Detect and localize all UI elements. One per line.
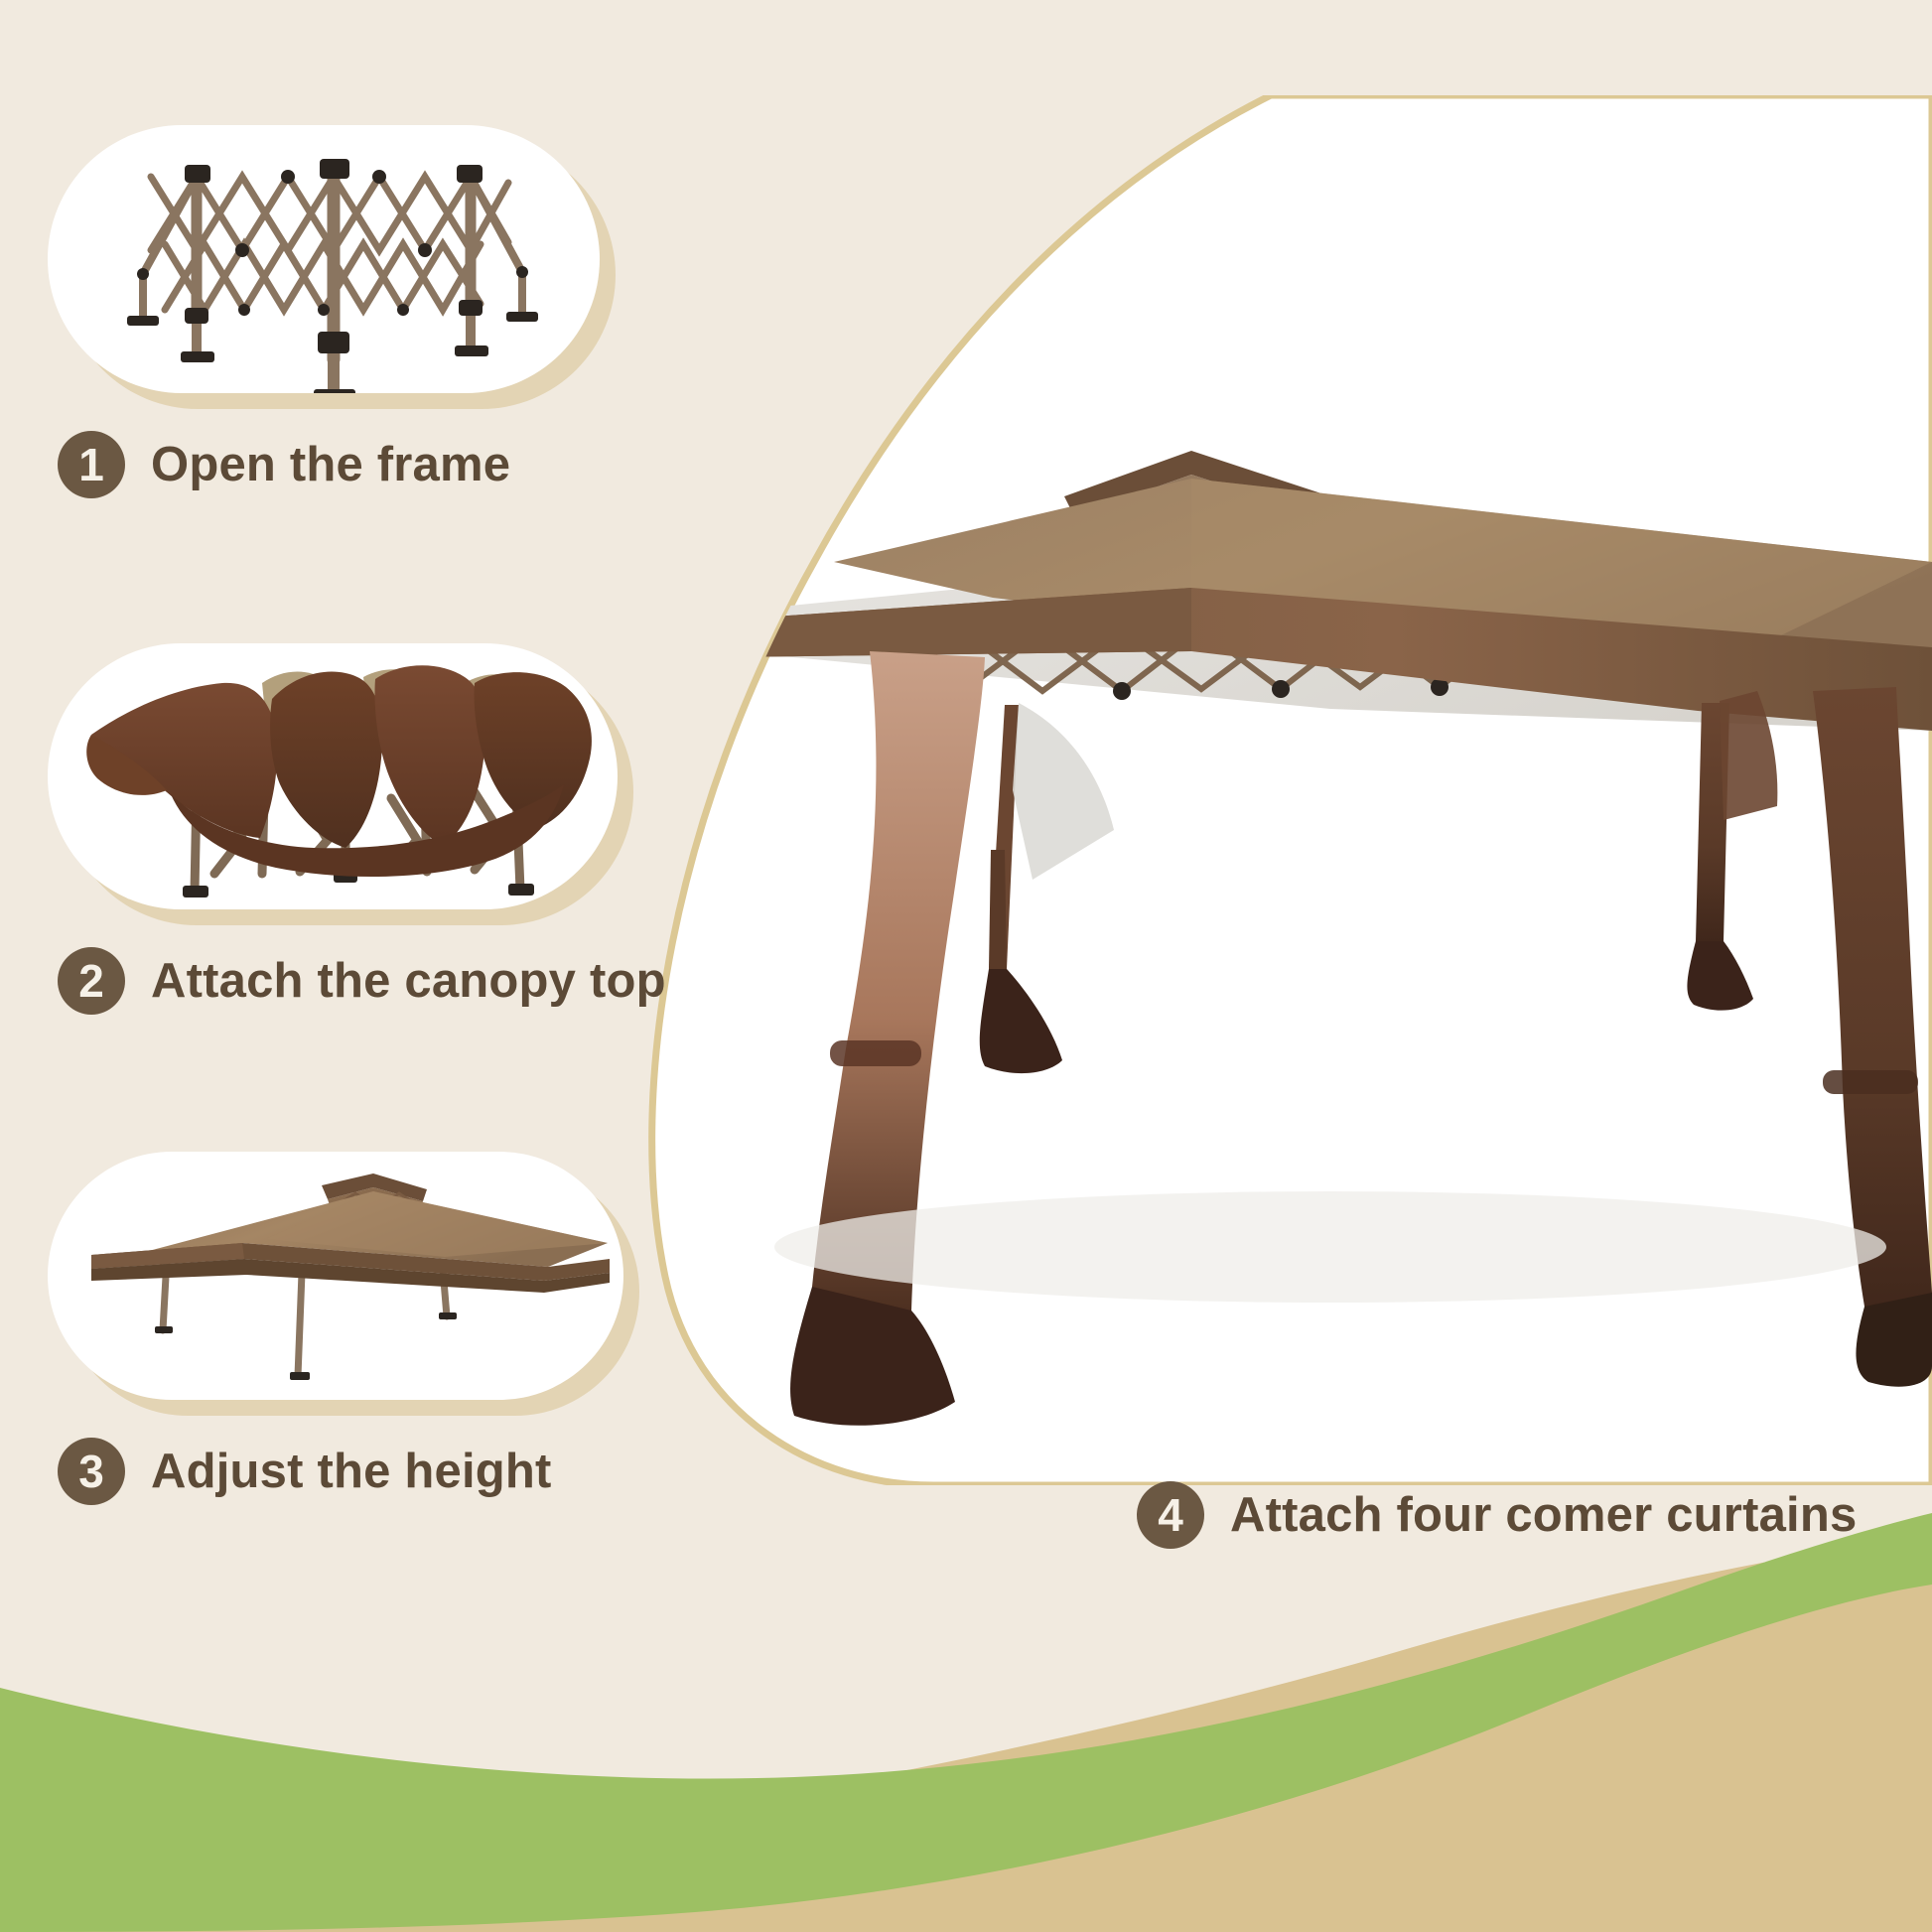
canopy-drape-icon bbox=[48, 643, 618, 909]
ground-shadow bbox=[774, 1191, 1886, 1303]
step-3-card bbox=[48, 1152, 623, 1400]
steps-column: 1 Open the frame bbox=[0, 0, 695, 1628]
step-1-caption: 1 Open the frame bbox=[48, 431, 643, 498]
gazebo-raised-icon bbox=[48, 1152, 623, 1400]
step-3-card-wrap bbox=[48, 1152, 643, 1400]
step-4-label: Attach four comer curtains bbox=[1230, 1487, 1857, 1543]
step-4-caption: 4 Attach four comer curtains bbox=[1137, 1481, 1857, 1549]
hero-illustration bbox=[635, 95, 1932, 1485]
step-2-card bbox=[48, 643, 618, 909]
infographic-canvas: 4 Attach four comer curtains bbox=[0, 0, 1932, 1932]
frame-lattice-icon bbox=[48, 125, 600, 393]
drape-center-lobe bbox=[270, 672, 382, 848]
step-3-badge: 3 bbox=[58, 1438, 125, 1505]
step-2-card-wrap bbox=[48, 643, 643, 909]
step-1-block: 1 Open the frame bbox=[48, 125, 643, 498]
step-2-badge: 2 bbox=[58, 947, 125, 1015]
curtain-tieband-front-left bbox=[830, 1040, 921, 1066]
step-4-badge: 4 bbox=[1137, 1481, 1204, 1549]
corner-curtain-far-right-pool bbox=[1856, 1293, 1932, 1387]
step-1-label: Open the frame bbox=[151, 437, 510, 492]
step-1-badge: 1 bbox=[58, 431, 125, 498]
step-2-caption: 2 Attach the canopy top bbox=[48, 947, 643, 1015]
leg-left-center-lower bbox=[989, 850, 1007, 969]
step-3-label: Adjust the height bbox=[151, 1444, 552, 1499]
gazebo-feet bbox=[155, 1312, 457, 1380]
step-1-card bbox=[48, 125, 600, 393]
step-3-block: 3 Adjust the height bbox=[48, 1152, 643, 1505]
curtain-tieband-far-right bbox=[1823, 1070, 1918, 1094]
canopy-eave-tip-left bbox=[695, 620, 739, 667]
step-2-label: Attach the canopy top bbox=[151, 953, 666, 1009]
step-3-caption: 3 Adjust the height bbox=[48, 1438, 643, 1505]
drape-right-lobe bbox=[375, 665, 485, 846]
step-2-block: 2 Attach the canopy top bbox=[48, 643, 643, 1015]
hero-panel bbox=[635, 95, 1932, 1485]
step-1-card-wrap bbox=[48, 125, 643, 393]
